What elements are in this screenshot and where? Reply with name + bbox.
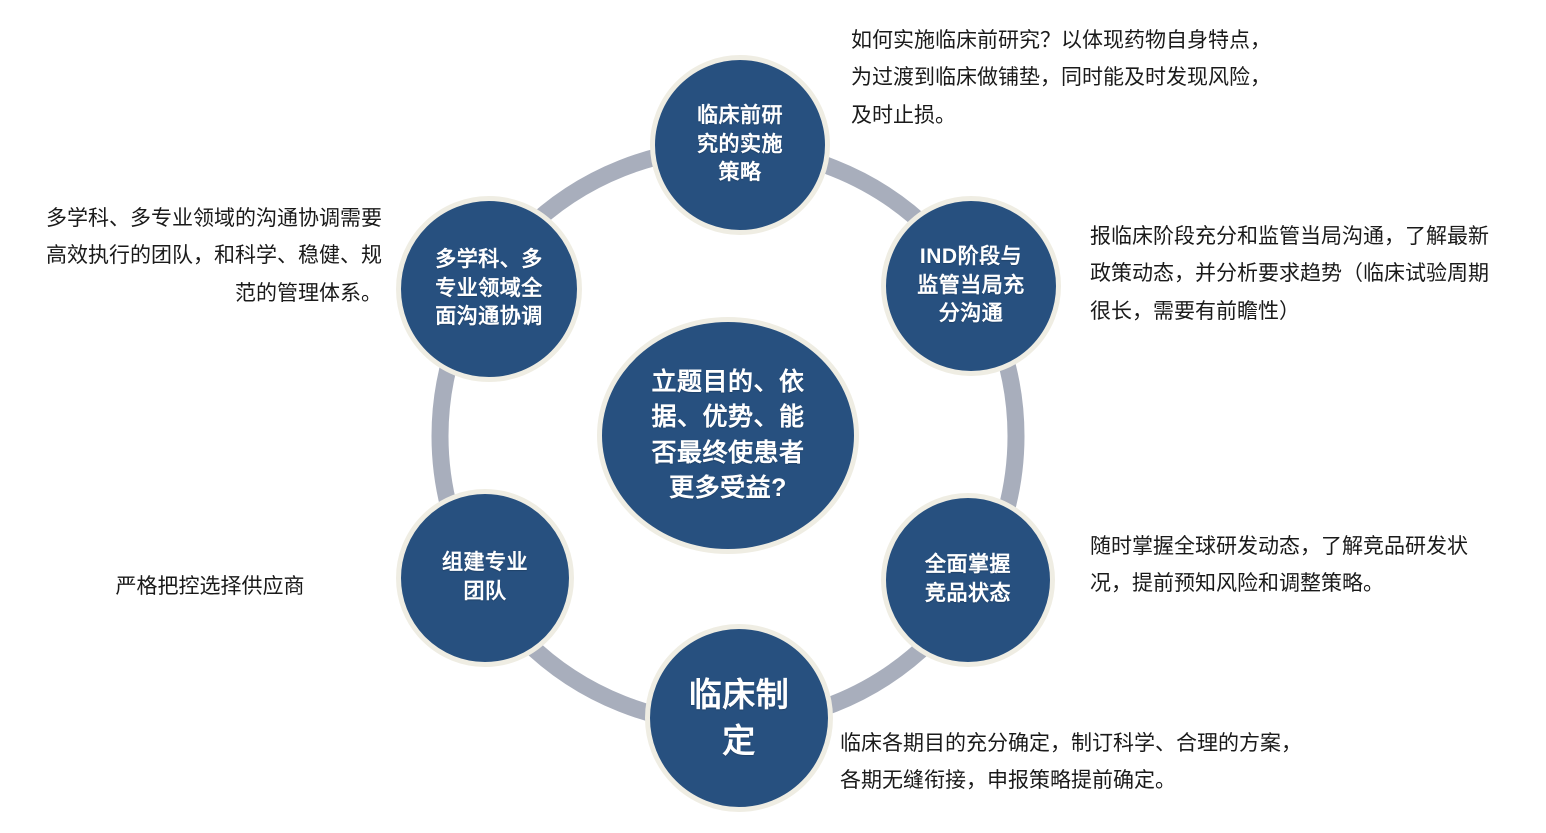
- center-node-label: 立题目的、依 据、优势、能 否最终使患者 更多受益?: [629, 365, 826, 507]
- annotation-multidiscipline: 多学科、多专业领域的沟通协调需要 高效执行的团队，和科学、稳健、规 范的管理体系…: [8, 200, 382, 312]
- annotation-ind: 报临床阶段充分和监管当局沟通，了解最新 政策动态，并分析要求趋势（临床试验周期 …: [1090, 218, 1538, 330]
- node-clinical-plan-label: 临床制 定: [675, 672, 804, 763]
- node-team-label: 组建专业 团队: [428, 549, 542, 607]
- center-node[interactable]: 立题目的、依 据、优势、能 否最终使患者 更多受益?: [597, 317, 859, 554]
- node-preclinical-label: 临床前研 究的实施 策略: [683, 102, 797, 189]
- node-multidiscipline[interactable]: 多学科、多 专业领域全 面沟通协调: [396, 196, 582, 382]
- node-ind[interactable]: IND阶段与 监管当局充 分沟通: [881, 196, 1061, 376]
- annotation-clinical-plan: 临床各期目的充分确定，制订科学、合理的方案， 各期无缝衔接，申报策略提前确定。: [840, 725, 1380, 800]
- annotation-team: 严格把控选择供应商: [60, 568, 360, 605]
- node-competitor[interactable]: 全面掌握 竞品状态: [881, 493, 1055, 667]
- node-ind-label: IND阶段与 监管当局充 分沟通: [903, 243, 1039, 330]
- annotation-competitor: 随时掌握全球研发动态，了解竞品研发状 况，提前预知风险和调整策略。: [1090, 528, 1520, 603]
- annotation-preclinical: 如何实施临床前研究？以体现药物自身特点， 为过渡到临床做铺垫，同时能及时发现风险…: [851, 22, 1371, 134]
- diagram-canvas: 立题目的、依 据、优势、能 否最终使患者 更多受益? 临床前研 究的实施 策略 …: [0, 0, 1546, 833]
- node-preclinical[interactable]: 临床前研 究的实施 策略: [650, 55, 830, 235]
- node-competitor-label: 全面掌握 竞品状态: [911, 551, 1025, 609]
- node-team[interactable]: 组建专业 团队: [396, 489, 574, 667]
- node-clinical-plan[interactable]: 临床制 定: [645, 624, 833, 812]
- node-multidiscipline-label: 多学科、多 专业领域全 面沟通协调: [421, 246, 557, 333]
